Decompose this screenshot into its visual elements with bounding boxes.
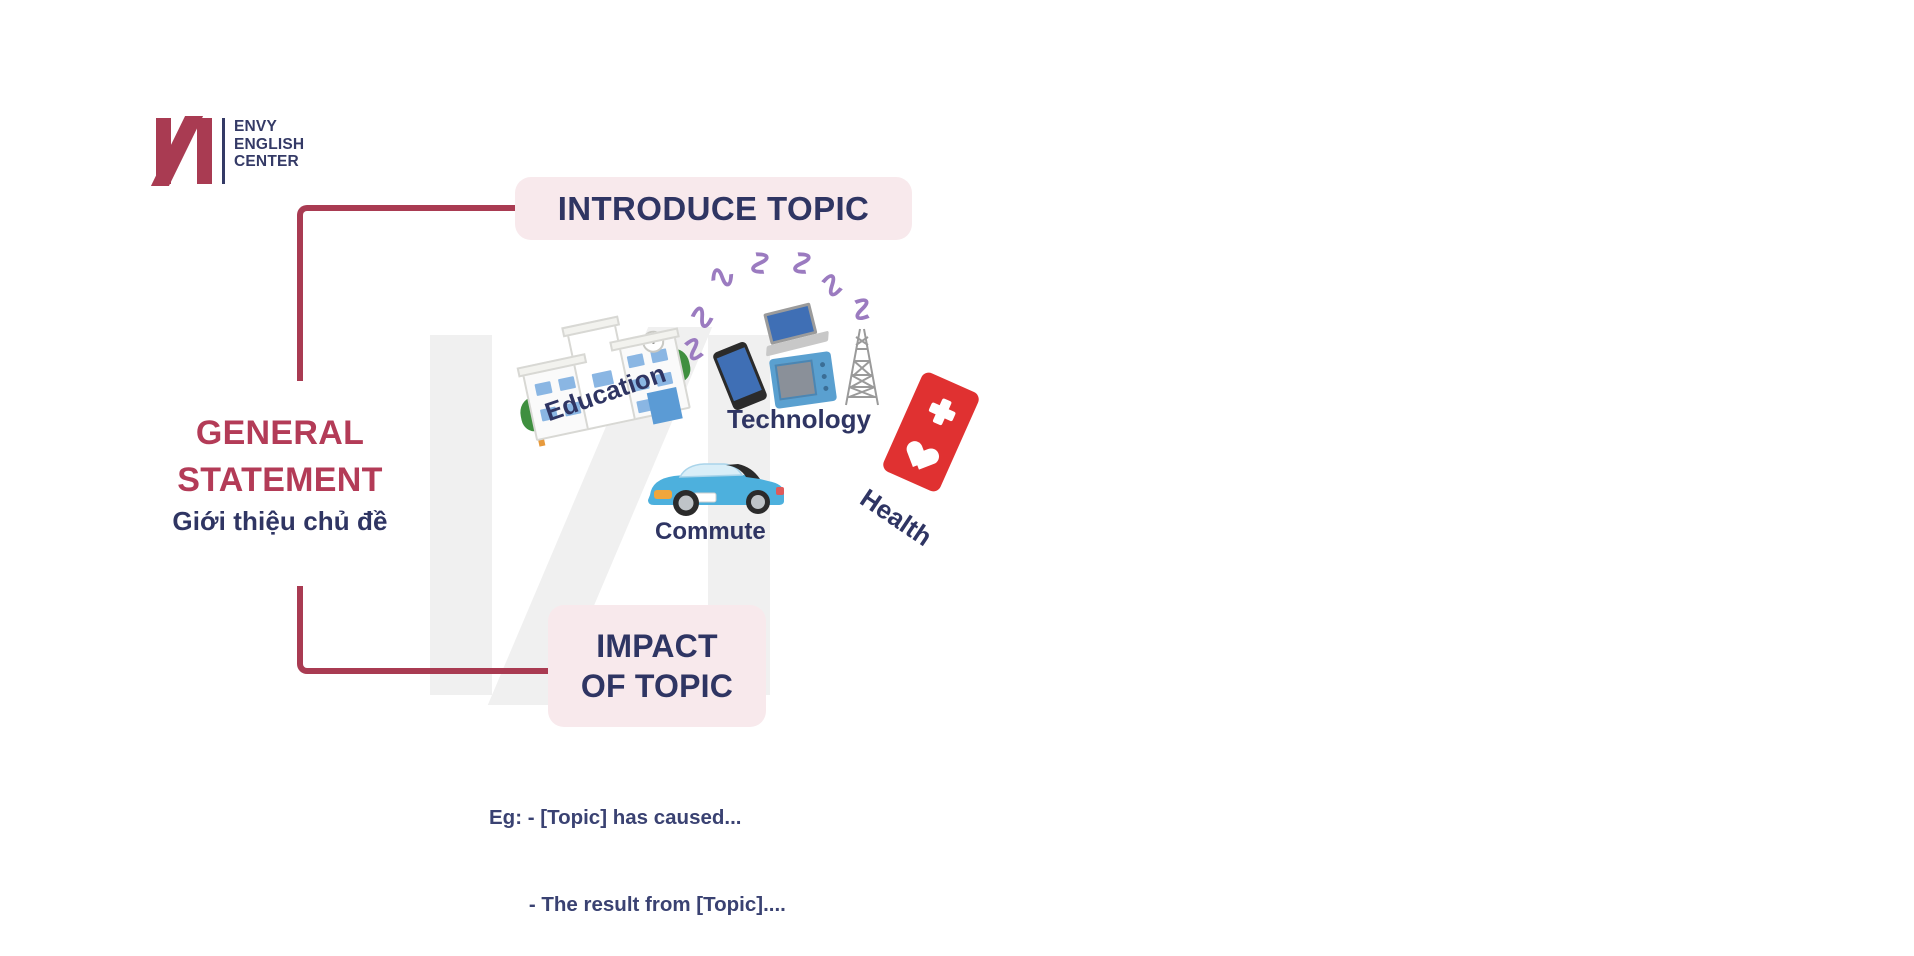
general-statement-line-2: STATEMENT [120,457,440,504]
signal-squiggle-icon: ∿ [738,245,783,281]
impact-line-2: OF TOPIC [581,668,733,704]
laptop-icon [757,300,830,360]
example-line-1: Eg: - [Topic] has caused... [489,803,786,832]
brand-logo: ENVY ENGLISH CENTER [156,118,316,186]
example-text: Eg: - [Topic] has caused... - The result… [489,745,786,956]
node-introduce-topic[interactable]: INTRODUCE TOPIC [515,177,912,240]
antenna-tower-icon [842,327,882,407]
logo-line-envy: ENVY [234,118,304,136]
logo-stroke-right [197,118,212,184]
smartphone-icon [712,341,769,412]
slide-canvas: ENVY ENGLISH CENTER INTRODUCE TOPIC IMPA… [0,0,1914,956]
general-statement-subtitle: Giới thiệu chủ đề [120,506,440,537]
monitor-knob [820,362,826,368]
convertible-car-icon [640,455,790,517]
node-introduce-topic-label: INTRODUCE TOPIC [558,190,870,228]
example-line-2: - The result from [Topic].... [489,890,786,919]
window [534,381,552,396]
signal-squiggle-icon: ∿ [705,255,739,299]
node-impact-of-topic-label: IMPACT OF TOPIC [581,626,733,706]
illustration-label-commute: Commute [655,518,766,546]
node-impact-of-topic[interactable]: IMPACT OF TOPIC [548,605,766,727]
monitor-knob [821,374,827,380]
medical-cross-icon [925,395,959,429]
logo-line-english: ENGLISH [234,136,304,154]
phone-screen [717,347,762,401]
logo-line-center: CENTER [234,153,304,171]
monitor-icon [769,351,837,409]
general-statement-line-1: GENERAL [120,410,440,457]
signal-squiggle-icon: ∿ [780,245,825,281]
connector-to-introduce-topic [297,205,519,381]
technology-cluster-icon: ∿ ∿ ∿ ∿ ∿ ∿ ∿ [690,255,900,415]
connector-to-impact-of-topic [297,586,559,674]
logo-wordmark: ENVY ENGLISH CENTER [234,118,304,171]
logo-divider [222,118,225,184]
impact-line-1: IMPACT [596,628,717,664]
monitor-screen [775,360,818,401]
illustration-label-technology: Technology [727,404,871,435]
illustration-label-health: Health [854,483,937,553]
monitor-knob [823,386,829,392]
heart-icon [899,427,938,465]
signal-squiggle-icon: ∿ [838,286,887,331]
general-statement-title: GENERAL STATEMENT [120,410,440,504]
logo-n-mark [156,118,212,184]
node-general-statement: GENERAL STATEMENT Giới thiệu chủ đề [120,410,440,537]
